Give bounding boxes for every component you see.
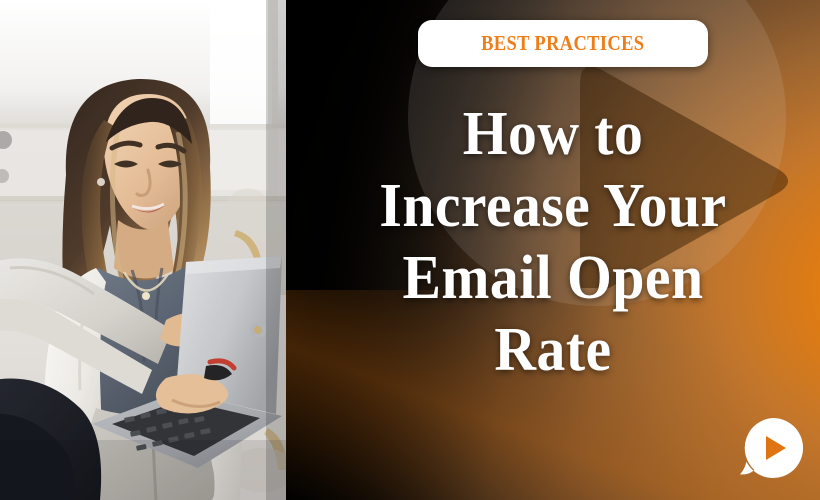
headline-line-1: How to [331,98,776,170]
badge-label: BEST PRACTICES [481,31,644,56]
hero-banner: BEST PRACTICES How to Increase Your Emai… [0,0,820,500]
best-practices-badge: BEST PRACTICES [418,20,708,67]
chat-bubble-play-icon[interactable] [735,412,807,484]
hero-art-panel: BEST PRACTICES How to Increase Your Emai… [286,0,820,500]
page-title: How to Increase Your Email Open Rate [314,98,792,386]
hero-photo [0,0,286,500]
headline-line-3: Email Open [331,242,776,314]
headline-line-4: Rate [331,314,776,386]
headline-line-2: Increase Your [331,170,776,242]
